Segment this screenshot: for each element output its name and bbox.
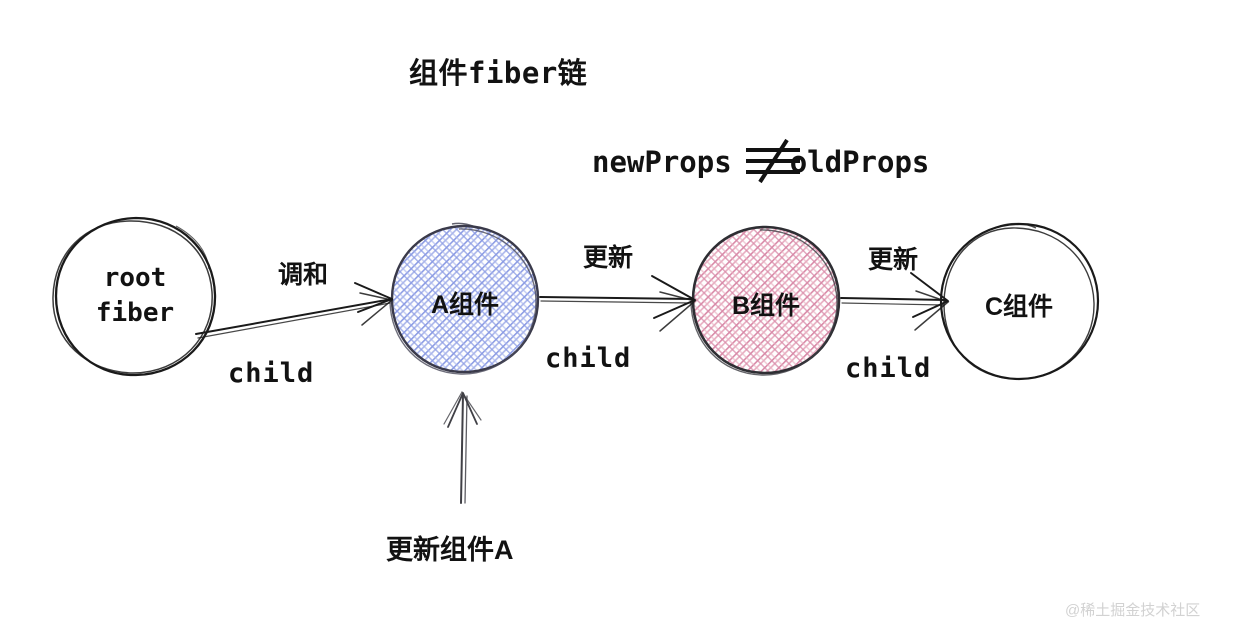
edge-a-to-b-label-above: 更新 (583, 238, 633, 274)
edge-a-to-b-label-below: child (545, 343, 631, 374)
props-annotation-new: newProps (592, 145, 732, 179)
diagram-canvas: 组件fiber链 newPropsoldProps root fiber A组件… (0, 0, 1252, 636)
edge-update-a (444, 392, 481, 503)
edge-b-to-c-label-above: 更新 (868, 240, 918, 276)
edge-a-to-b (540, 276, 695, 331)
watermark: @稀土掘金技术社区 (1065, 599, 1200, 620)
node-root-fiber-line1: root (85, 261, 185, 296)
edge-b-to-c (841, 273, 948, 330)
props-annotation: newPropsoldProps (592, 145, 929, 179)
node-component-b-label: B组件 (715, 286, 817, 322)
node-root-fiber-line2: fiber (85, 296, 185, 331)
page-title: 组件fiber链 (409, 50, 587, 92)
node-component-a-label: A组件 (414, 285, 516, 321)
edge-b-to-c-label-below: child (845, 353, 931, 384)
update-component-a-note: 更新组件A (386, 528, 514, 567)
edge-root-to-a-label-above: 调和 (278, 255, 328, 291)
node-component-c-label: C组件 (968, 287, 1070, 323)
node-root-fiber-label: root fiber (85, 261, 185, 331)
props-annotation-old: oldProps (790, 145, 930, 179)
edge-root-to-a-label-below: child (228, 358, 314, 389)
edge-root-to-a (196, 283, 392, 338)
